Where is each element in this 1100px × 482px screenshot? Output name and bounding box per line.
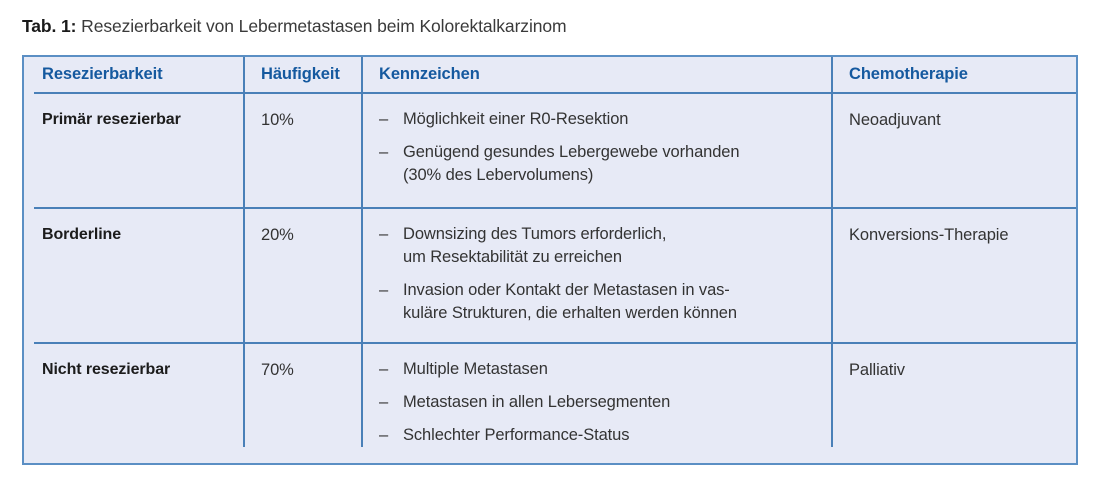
dash-bullet-icon: –	[379, 279, 388, 302]
header-label: Kennzeichen	[379, 57, 831, 92]
list-item-label: Invasion oder Kontakt der Metastasen in …	[403, 279, 831, 325]
list-item-label: Metastasen in allen Lebersegmenten	[403, 391, 831, 414]
table-row: 20%	[243, 209, 361, 342]
table-caption: Tab. 1: Resezierbarkeit von Lebermetasta…	[22, 14, 566, 38]
cell-haeufigkeit: 70%	[261, 344, 361, 380]
list-item-label: Möglichkeit einer R0-Resektion	[403, 108, 831, 131]
dash-bullet-icon: –	[379, 141, 388, 164]
cell-chemotherapie: Konversions-Therapie	[849, 209, 1078, 245]
list-item: – Downsizing des Tumors erforderlich, um…	[379, 223, 831, 269]
dash-bullet-icon: –	[379, 223, 388, 246]
list-item-label: Multiple Metastasen	[403, 358, 831, 381]
cell-haeufigkeit: 20%	[261, 209, 361, 245]
table-figure-page: Tab. 1: Resezierbarkeit von Lebermetasta…	[0, 0, 1100, 482]
dash-bullet-icon: –	[379, 391, 388, 414]
list-item: – Metastasen in allen Lebersegmenten	[379, 391, 831, 414]
dash-bullet-icon: –	[379, 424, 388, 447]
table-row: – Downsizing des Tumors erforderlich, um…	[361, 209, 831, 342]
table-header-cell-haeufigkeit: Häufigkeit	[243, 57, 361, 92]
table-row: Nicht resezierbar	[24, 344, 243, 447]
table-header-cell-chemotherapie: Chemotherapie	[831, 57, 1078, 92]
table-header-cell-kennzeichen: Kennzeichen	[361, 57, 831, 92]
list-item: – Invasion oder Kontakt der Metastasen i…	[379, 279, 831, 325]
list-item: – Multiple Metastasen	[379, 358, 831, 381]
cell-kennzeichen: – Multiple Metastasen – Metastasen in al…	[379, 344, 831, 447]
table-row: Primär resezierbar	[24, 94, 243, 207]
caption-text: Resezierbarkeit von Lebermetastasen beim…	[76, 16, 566, 36]
list-item: – Möglichkeit einer R0-Resektion	[379, 108, 831, 131]
dash-bullet-icon: –	[379, 108, 388, 131]
cell-chemotherapie: Palliativ	[849, 344, 1078, 380]
list-item-label: Genügend gesundes Lebergewebe vorhanden …	[403, 141, 831, 187]
cell-haeufigkeit: 10%	[261, 94, 361, 130]
cell-resezierbarkeit: Primär resezierbar	[42, 94, 243, 130]
list-item: – Genügend gesundes Lebergewebe vorhande…	[379, 141, 831, 187]
cell-chemotherapie: Neoadjuvant	[849, 94, 1078, 130]
table-row: 70%	[243, 344, 361, 447]
dash-bullet-icon: –	[379, 358, 388, 381]
caption-label: Tab. 1:	[22, 16, 76, 36]
cell-resezierbarkeit: Nicht resezierbar	[42, 344, 243, 380]
cell-kennzeichen: – Downsizing des Tumors erforderlich, um…	[379, 209, 831, 325]
header-label: Chemotherapie	[849, 57, 1078, 92]
table-row: Palliativ	[831, 344, 1078, 447]
table-row: 10%	[243, 94, 361, 207]
table-header-cell-resezierbarkeit: Resezierbarkeit	[24, 57, 243, 92]
list-item: – Schlechter Performance-Status	[379, 424, 831, 447]
table-row: – Multiple Metastasen – Metastasen in al…	[361, 344, 831, 447]
table-row: Neoadjuvant	[831, 94, 1078, 207]
header-label: Häufigkeit	[261, 57, 361, 92]
cell-kennzeichen: – Möglichkeit einer R0-Resektion – Genüg…	[379, 94, 831, 187]
table-row: Konversions-Therapie	[831, 209, 1078, 342]
cell-resezierbarkeit: Borderline	[42, 209, 243, 245]
table-row: – Möglichkeit einer R0-Resektion – Genüg…	[361, 94, 831, 207]
data-table: Resezierbarkeit Häufigkeit Kennzeichen C…	[22, 55, 1078, 465]
list-item-label: Downsizing des Tumors erforderlich, um R…	[403, 223, 831, 269]
header-label: Resezierbarkeit	[42, 57, 243, 92]
table-row: Borderline	[24, 209, 243, 342]
list-item-label: Schlechter Performance-Status	[403, 424, 831, 447]
